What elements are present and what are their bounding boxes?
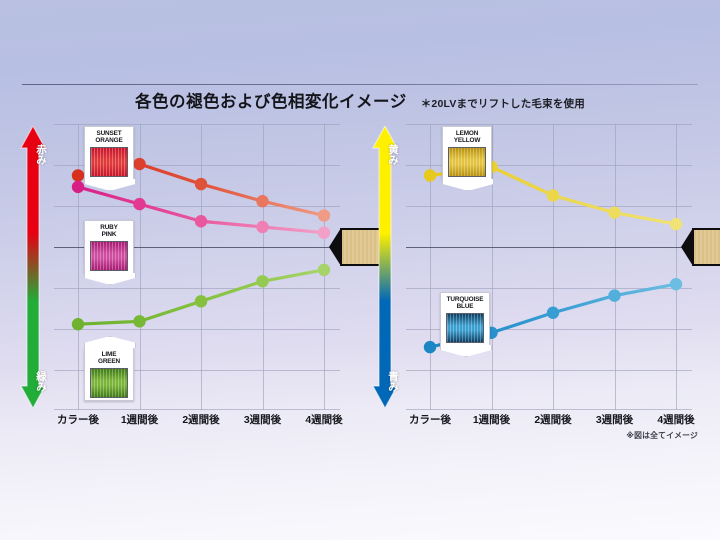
swatch-body: TURQUOISEBLUE (440, 292, 490, 345)
swatch-pointer (84, 273, 136, 285)
swatch-pointer (440, 345, 492, 357)
axis-label-bottom: 青み (372, 371, 398, 392)
swatch-pointer (442, 179, 494, 191)
grid-line-horizontal (54, 124, 340, 125)
axis-label-top: 黄み (372, 144, 398, 165)
grid-line-horizontal (406, 288, 692, 289)
swatch-name: SUNSETORANGE (87, 130, 131, 144)
grid-line-horizontal (406, 124, 692, 125)
grid-line-horizontal (406, 206, 692, 207)
grid-line-baseline (406, 247, 692, 248)
swatch-pointer (84, 179, 136, 191)
swatch-name: LEMONYELLOW (445, 130, 489, 144)
grid-line-vertical (263, 124, 264, 410)
faded-result-swatch (692, 228, 720, 266)
swatch-name-line1: LIME (87, 351, 131, 358)
swatch-chip (90, 147, 128, 177)
x-axis-label: 1週間後 (473, 412, 510, 427)
header-rule (22, 84, 698, 85)
color-swatch-callout: RUBYPINK (84, 220, 134, 285)
plot-area: LEMONYELLOWTURQUOISEBLUE (406, 124, 692, 410)
x-axis-label: 3週間後 (244, 412, 281, 427)
color-swatch-callout: SUNSETORANGE (84, 126, 134, 191)
swatch-name: RUBYPINK (87, 224, 131, 238)
swatch-name: TURQUOISEBLUE (443, 296, 487, 310)
grid-line-vertical (201, 124, 202, 410)
swatch-pointer (84, 336, 136, 348)
grid-line-horizontal (54, 409, 340, 410)
gradient-axis-arrow: 黄み青み (372, 126, 398, 408)
x-axis-label: 3週間後 (596, 412, 633, 427)
grid-line-vertical (676, 124, 677, 410)
header: 各色の褪色および色相変化イメージ＊20LVまでリフトした毛束を使用 (0, 88, 720, 112)
footnote: ※図は全てイメージ (626, 430, 698, 441)
x-axis: カラー後1週間後2週間後3週間後4週間後 (54, 412, 340, 432)
gradient-axis-arrow: 赤み緑み (20, 126, 46, 408)
x-axis-label: カラー後 (57, 412, 99, 427)
grid-line-horizontal (406, 409, 692, 410)
axis-label-top: 赤み (20, 144, 46, 165)
swatch-name-line2: PINK (87, 231, 131, 238)
grid-line-horizontal (54, 288, 340, 289)
swatch-body: LIMEGREEN (84, 348, 134, 401)
x-axis: カラー後1週間後2週間後3週間後4週間後 (406, 412, 692, 432)
swatch-name-line2: GREEN (87, 358, 131, 365)
page-title: 各色の褪色および色相変化イメージ (135, 93, 407, 111)
grid-line-vertical (324, 124, 325, 410)
chart-panel-red-green: 赤み緑みSUNSETORANGERUBYPINKLIMEGREENカラー後1週間… (16, 124, 340, 410)
x-axis-label: カラー後 (409, 412, 451, 427)
grid-line-vertical (78, 124, 79, 410)
color-swatch-callout: LIMEGREEN (84, 336, 134, 401)
swatch-name-line1: TURQUOISE (443, 296, 487, 303)
color-swatch-callout: LEMONYELLOW (442, 126, 492, 191)
swatch-body: LEMONYELLOW (442, 126, 492, 179)
page-subtitle: ＊20LVまでリフトした毛束を使用 (421, 98, 585, 110)
grid-line-vertical (553, 124, 554, 410)
swatch-chip (448, 147, 486, 177)
grid-line-horizontal (54, 206, 340, 207)
swatch-name-line2: YELLOW (445, 137, 489, 144)
swatch-name-line1: LEMON (445, 130, 489, 137)
plot-area: SUNSETORANGERUBYPINKLIMEGREEN (54, 124, 340, 410)
swatch-chip (90, 241, 128, 271)
x-axis-label: 2週間後 (182, 412, 219, 427)
axis-label-bottom: 緑み (20, 371, 46, 392)
x-axis-label: 4週間後 (305, 412, 342, 427)
blonde-chip (692, 228, 720, 266)
infographic-root: 各色の褪色および色相変化イメージ＊20LVまでリフトした毛束を使用 赤み緑みSU… (0, 0, 720, 540)
swatch-name-line1: RUBY (87, 224, 131, 231)
swatch-body: RUBYPINK (84, 220, 134, 273)
grid-line-horizontal (406, 370, 692, 371)
swatch-chip (90, 368, 128, 398)
swatch-name-line2: ORANGE (87, 137, 131, 144)
swatch-chip (446, 313, 484, 343)
x-axis-label: 2週間後 (534, 412, 571, 427)
grid-line-vertical (140, 124, 141, 410)
swatch-body: SUNSETORANGE (84, 126, 134, 179)
grid-line-vertical (615, 124, 616, 410)
x-axis-label: 1週間後 (121, 412, 158, 427)
swatch-name: LIMEGREEN (87, 351, 131, 365)
chart-panel-yellow-blue: 黄み青みLEMONYELLOWTURQUOISEBLUEカラー後1週間後2週間後… (368, 124, 692, 410)
swatch-name-line2: BLUE (443, 303, 487, 310)
grid-line-vertical (430, 124, 431, 410)
swatch-name-line1: SUNSET (87, 130, 131, 137)
x-axis-label: 4週間後 (657, 412, 694, 427)
color-swatch-callout: TURQUOISEBLUE (440, 292, 490, 357)
grid-line-horizontal (54, 329, 340, 330)
